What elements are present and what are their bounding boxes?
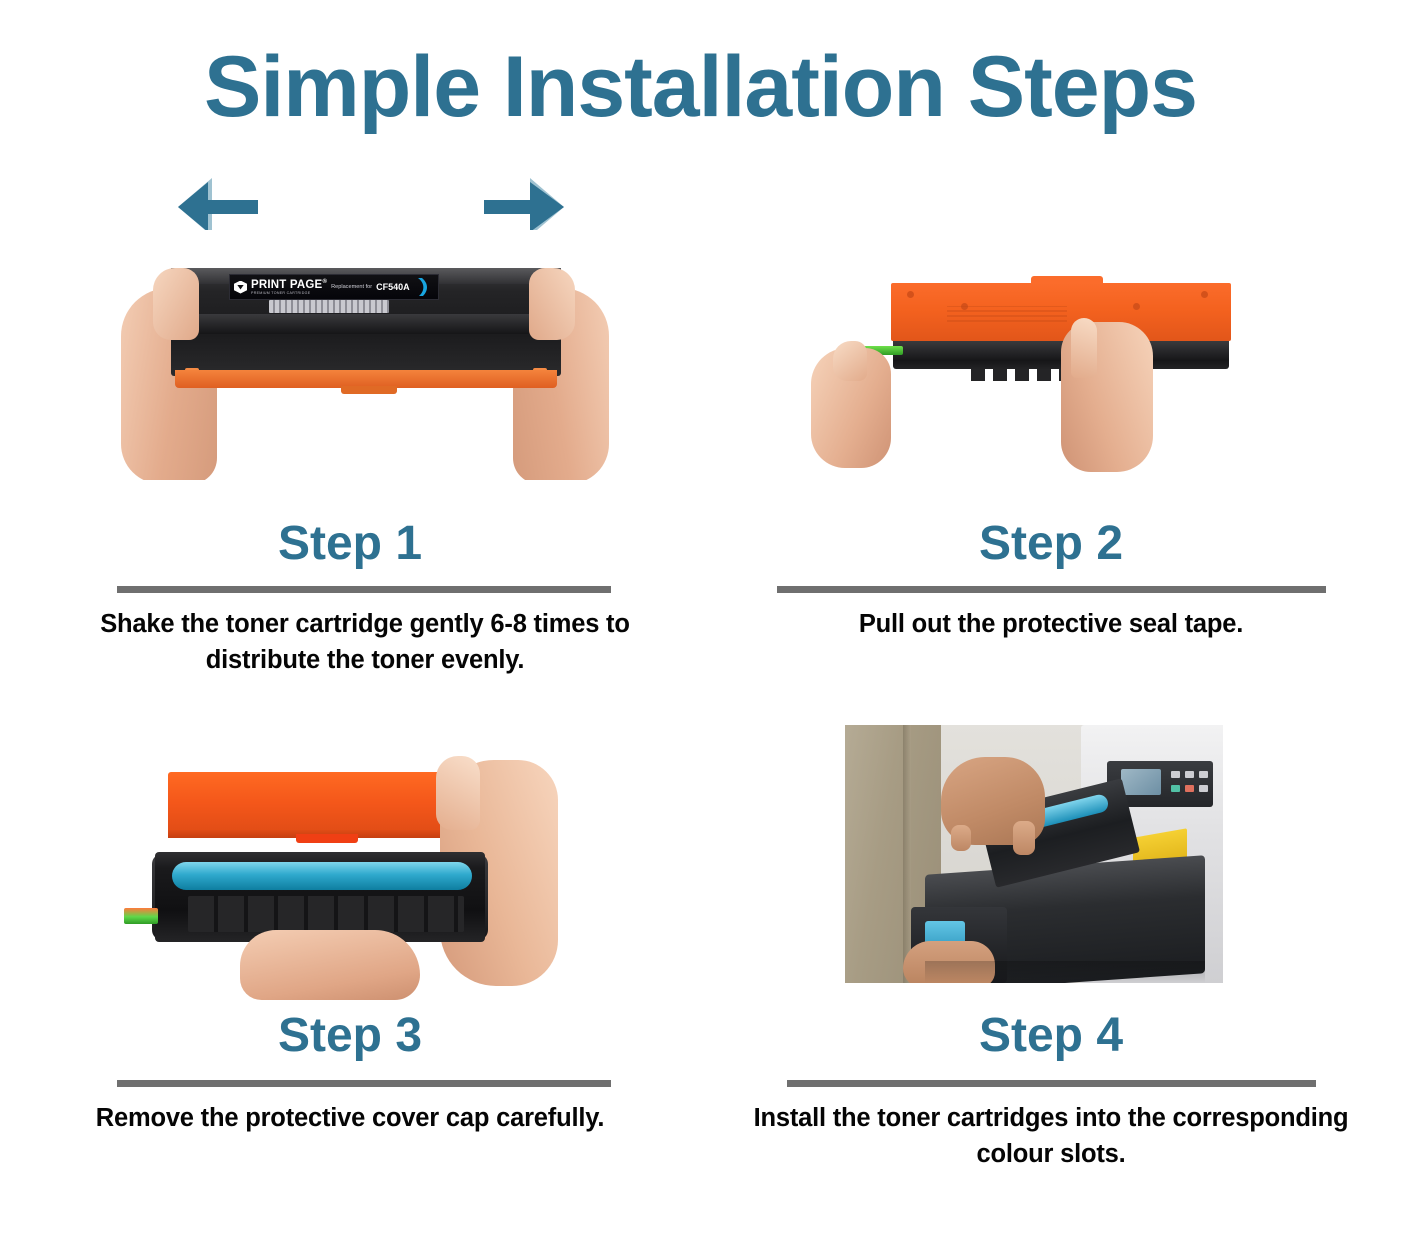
- panel-key: [1199, 785, 1208, 792]
- printer-display-screen: [1121, 769, 1161, 795]
- panel-start-key: [1171, 785, 1180, 792]
- right-thumb: [436, 756, 480, 830]
- seal-tape-stub: [124, 908, 158, 924]
- left-thumb: [153, 268, 199, 340]
- step-1-photo: PRINT PAGE® PREMIUM TONER CARTRIDGE Repl…: [93, 230, 633, 480]
- cap-embossing: [947, 306, 1067, 322]
- replacement-prefix: Replacement for: [331, 284, 372, 290]
- step-4-divider: [787, 1080, 1316, 1087]
- print-page-logo-icon: [234, 281, 247, 294]
- cap-screw-left: [907, 291, 914, 298]
- panel-key: [1199, 771, 1208, 778]
- step-1-divider: [117, 586, 611, 593]
- cap-screw-right: [1201, 291, 1208, 298]
- brand-tagline: PREMIUM TONER CARTRIDGE: [251, 292, 327, 296]
- step-1-caption: Shake the toner cartridge gently 6-8 tim…: [60, 606, 670, 678]
- page-title: Simple Installation Steps: [0, 42, 1401, 132]
- finger: [951, 825, 971, 851]
- panel-key: [1185, 771, 1194, 778]
- jacket-fold: [903, 725, 911, 983]
- step-4-photo: [845, 725, 1223, 983]
- step-3-caption: Remove the protective cover cap carefull…: [10, 1100, 690, 1136]
- swoosh-icon: [415, 277, 429, 297]
- step-card-3: Step 3 Remove the protective cover cap c…: [0, 720, 700, 1238]
- panel-key: [1171, 771, 1180, 778]
- cyan-drum: [172, 862, 472, 890]
- registered-mark: ®: [322, 279, 327, 285]
- step-4-caption: Install the toner cartridges into the co…: [731, 1100, 1371, 1172]
- right-thumb: [529, 268, 575, 340]
- step-2-label: Step 2: [701, 520, 1401, 568]
- panel-stop-key: [1185, 785, 1194, 792]
- left-thumb: [833, 341, 867, 381]
- step-2-divider: [777, 586, 1326, 593]
- step-3-label: Step 3: [0, 1012, 700, 1060]
- cartridge-drum-strip: [269, 300, 389, 313]
- orange-protective-cap: [168, 772, 480, 834]
- steps-grid: PRINT PAGE® PREMIUM TONER CARTRIDGE Repl…: [0, 228, 1401, 1238]
- step-3-photo: [110, 730, 630, 1000]
- cartridge-shelf: [177, 314, 555, 334]
- product-label: PRINT PAGE® PREMIUM TONER CARTRIDGE Repl…: [229, 274, 439, 300]
- cartridge-model: CF540A: [376, 282, 410, 292]
- cartridge-ribs: [188, 896, 464, 932]
- step-card-2: Step 2 Pull out the protective seal tape…: [701, 228, 1401, 720]
- step-1-label: Step 1: [0, 520, 700, 568]
- step-4-label: Step 4: [701, 1012, 1401, 1060]
- drawer-shadow: [925, 961, 1205, 983]
- cap-tab: [296, 834, 358, 843]
- brand-name: PRINT PAGE: [251, 278, 322, 290]
- orange-base-tab: [341, 386, 397, 394]
- step-2-photo: [771, 228, 1271, 518]
- right-index-finger: [1071, 318, 1097, 378]
- step-card-1: PRINT PAGE® PREMIUM TONER CARTRIDGE Repl…: [0, 228, 700, 720]
- brand-block: PRINT PAGE® PREMIUM TONER CARTRIDGE: [251, 279, 327, 296]
- cap-hole-right: [1133, 303, 1140, 310]
- step-card-4: Step 4 Install the toner cartridges into…: [701, 720, 1401, 1238]
- step-2-caption: Pull out the protective seal tape.: [721, 606, 1381, 642]
- supporting-palm: [240, 930, 420, 1000]
- step-3-divider: [117, 1080, 611, 1087]
- thumb: [1013, 821, 1035, 855]
